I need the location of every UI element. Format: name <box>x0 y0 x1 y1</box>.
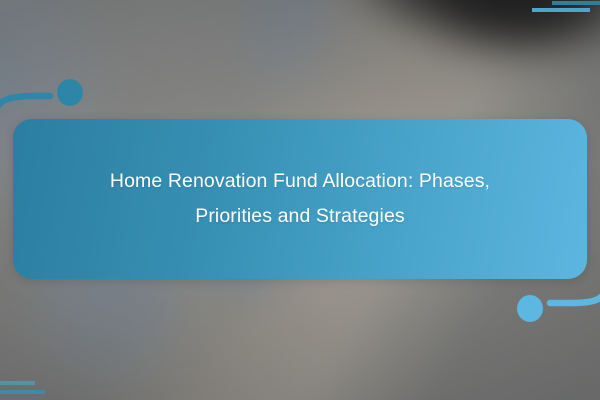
page-title-line-1: Home Renovation Fund Allocation: Phases, <box>110 170 490 192</box>
curve-decoration-bottom-right <box>546 288 600 318</box>
bar-decoration-bottom-left-lower <box>0 390 45 394</box>
circle-decoration-bottom-right <box>517 295 543 322</box>
page-title-line-2: Priorities and Strategies <box>195 205 405 227</box>
circle-decoration-top-left <box>57 79 83 106</box>
title-banner: Home Renovation Fund Allocation: Phases,… <box>13 119 587 279</box>
bar-decoration-top-right-lower <box>532 8 590 12</box>
title-slide: Home Renovation Fund Allocation: Phases,… <box>0 0 600 400</box>
curve-decoration-top-left <box>0 84 58 114</box>
bar-decoration-bottom-left-upper <box>0 381 35 385</box>
bar-decoration-top-right-upper <box>552 1 600 5</box>
page-title: Home Renovation Fund Allocation: Phases,… <box>110 164 490 233</box>
